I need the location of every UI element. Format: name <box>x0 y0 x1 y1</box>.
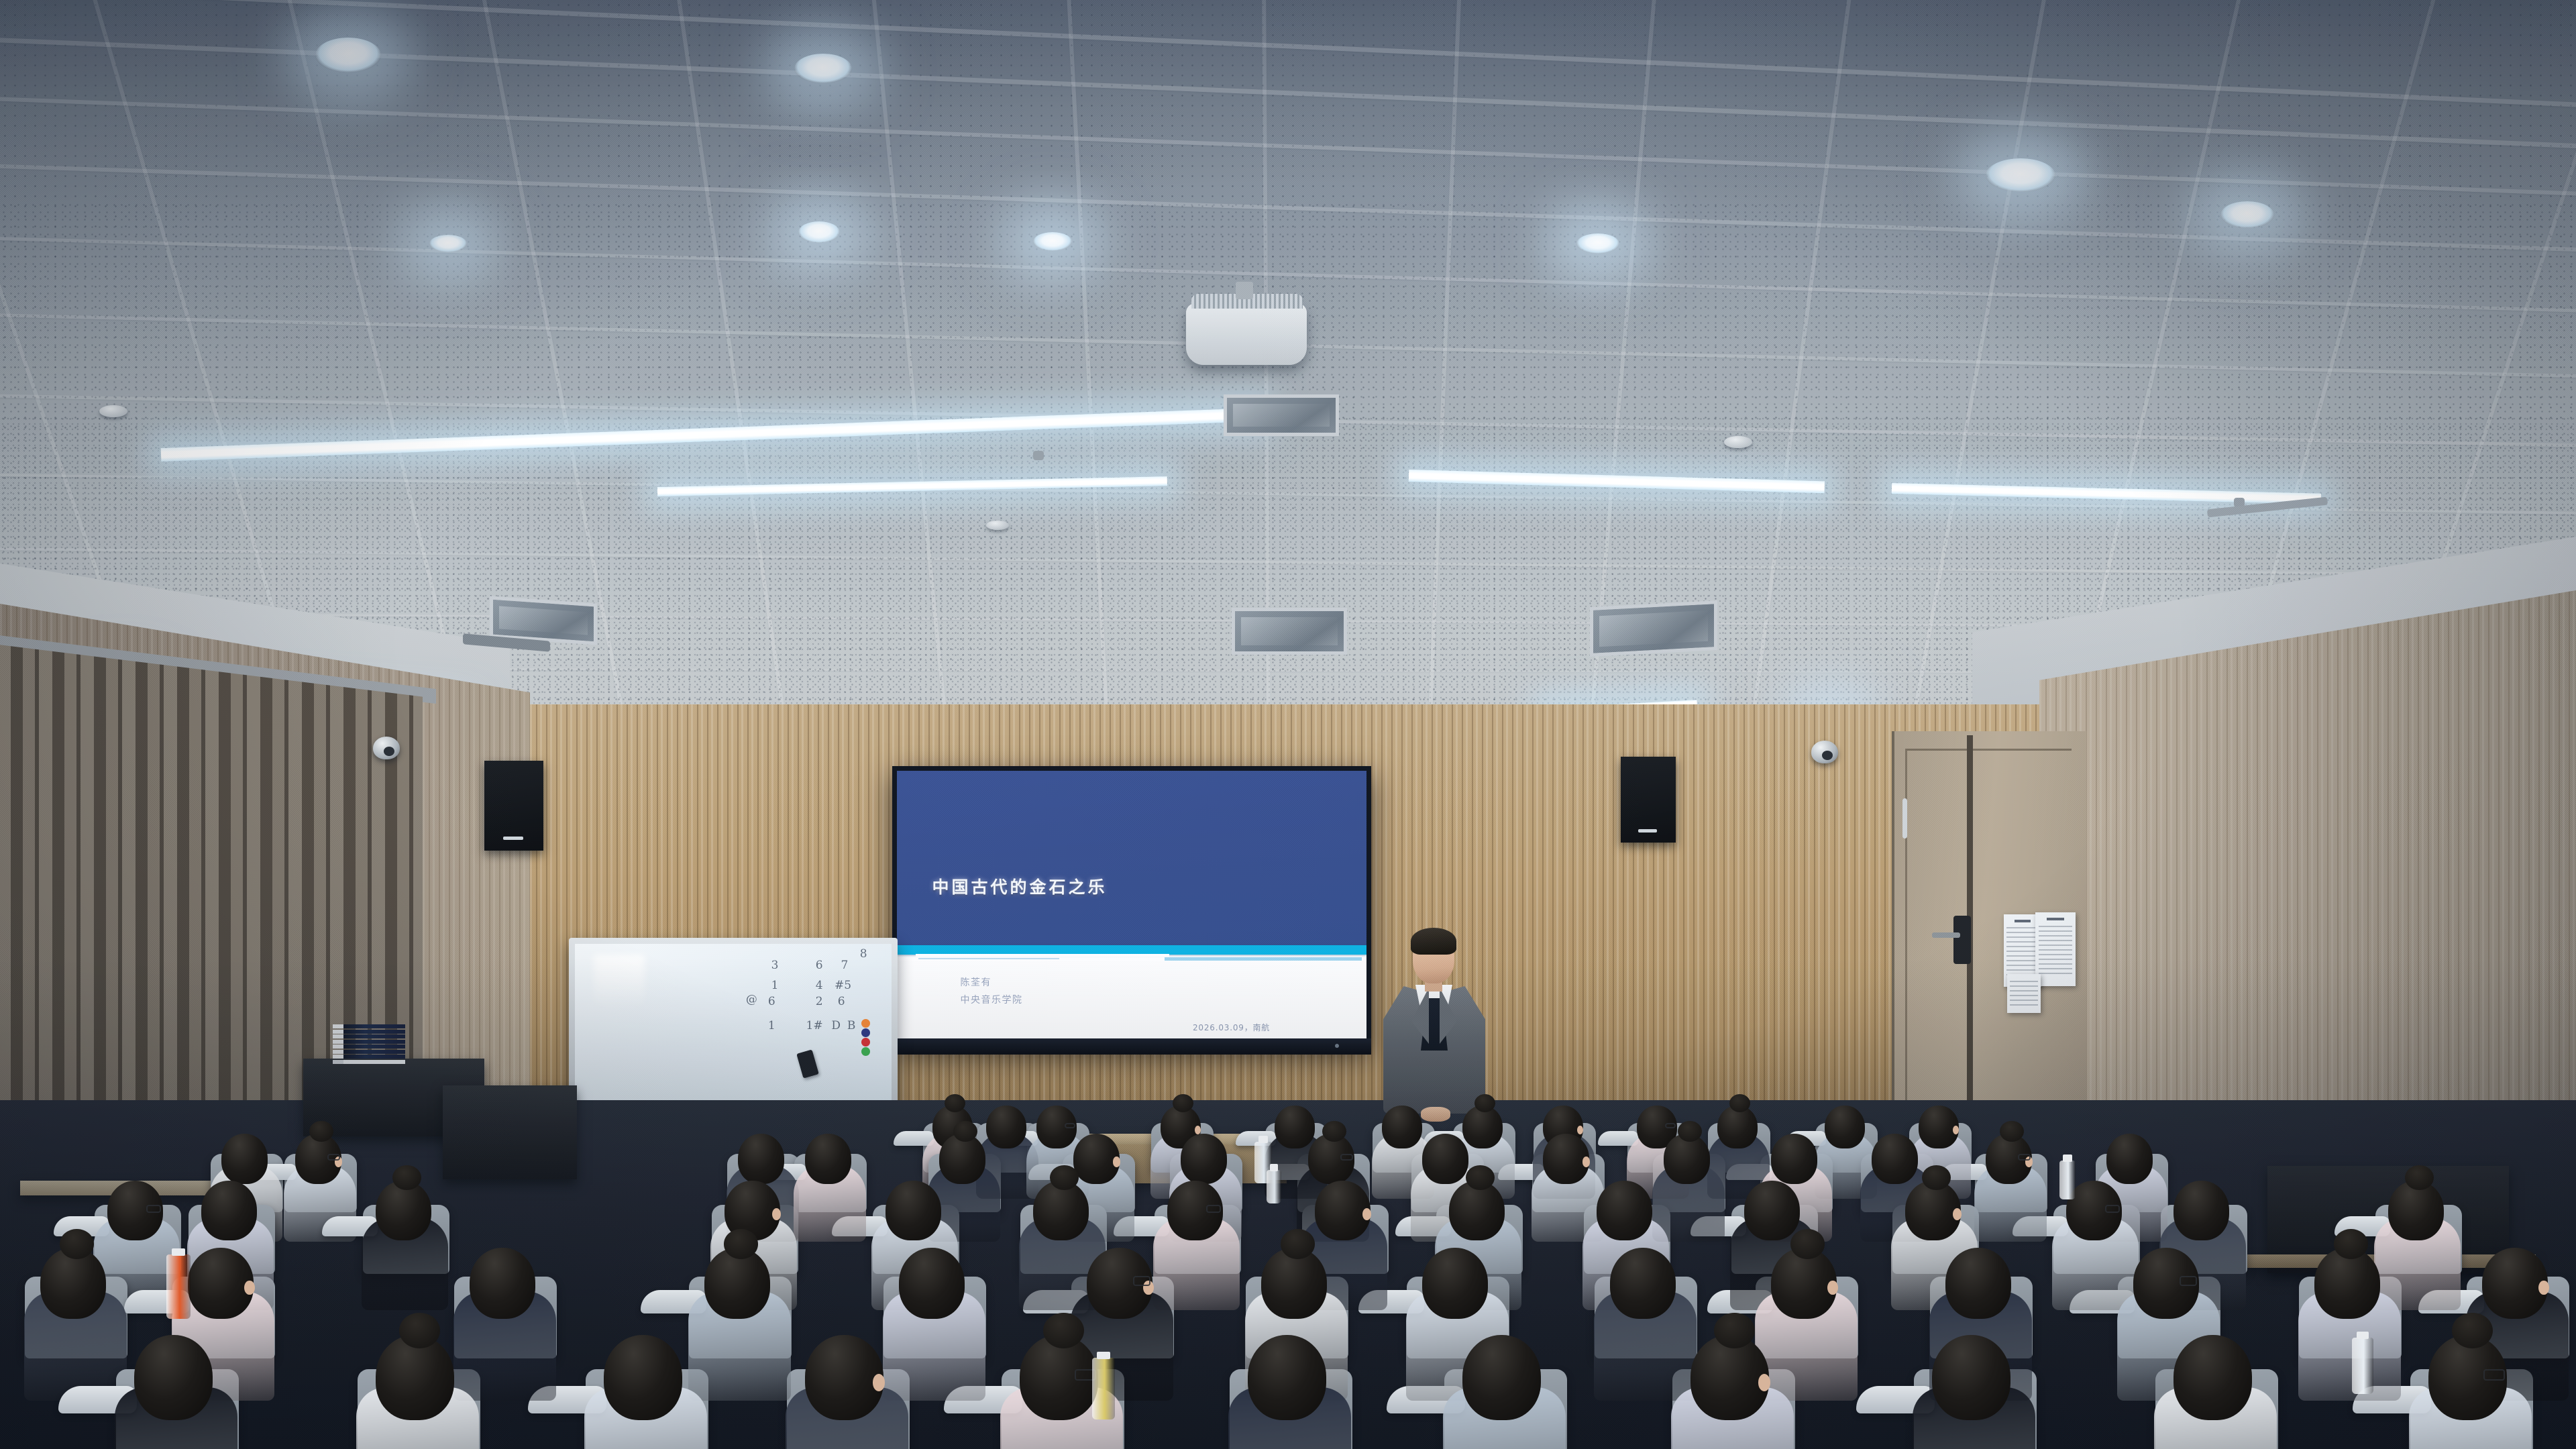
audience-head <box>885 1181 941 1240</box>
audience-ear <box>2538 1281 2548 1295</box>
bottle-cap <box>1097 1352 1110 1359</box>
audience-head <box>1744 1181 1800 1240</box>
audience-head <box>1932 1335 2010 1420</box>
book <box>333 1024 405 1028</box>
ceiling-grid-line-v <box>657 0 826 751</box>
audience-head <box>1610 1248 1676 1319</box>
audience-hair-bun <box>2000 1121 2024 1142</box>
book <box>333 1050 405 1054</box>
audience-hair-bun <box>1714 1313 1755 1348</box>
bottle-cap <box>2357 1332 2369 1339</box>
audience-hair-bun <box>1729 1094 1750 1112</box>
audience-head <box>1422 1134 1468 1184</box>
audience-head <box>1248 1335 1326 1420</box>
slide-title: 中国古代的金石之乐 <box>932 874 1108 898</box>
audience-ear <box>1113 1157 1120 1167</box>
whiteboard-magnets[interactable] <box>861 1019 870 1057</box>
audience-glasses <box>2483 1369 2505 1381</box>
audience-hair-bun <box>1474 1094 1495 1112</box>
dome-camera-left <box>373 737 400 759</box>
audience-hair-bun <box>399 1313 440 1348</box>
audience-head <box>2173 1335 2252 1420</box>
audience-hair-bun <box>1922 1165 1951 1191</box>
air-vent-right <box>1590 600 1717 657</box>
projection-screen: 中国古代的金石之乐 陈荃有 中央音乐学院 2026.03.09，南航 <box>892 766 1371 1048</box>
audience-head <box>1771 1134 1817 1184</box>
sprinkler-head <box>1033 451 1044 460</box>
audience-ear <box>1953 1208 1962 1220</box>
slide-accent-bar <box>897 945 1366 955</box>
ceiling-grid-line-v <box>1060 0 1124 751</box>
audience-head <box>1422 1248 1488 1319</box>
wall-poster-right <box>2035 912 2076 986</box>
smoke-detector-center <box>986 521 1009 530</box>
poster-text-lines <box>2006 927 2038 978</box>
whiteboard-magnet[interactable] <box>861 1019 870 1028</box>
audience-head <box>134 1335 213 1420</box>
whiteboard-magnet[interactable] <box>861 1038 870 1046</box>
audience-hair-bun <box>2405 1165 2434 1191</box>
audience-glasses <box>327 1154 340 1161</box>
water-bottle[interactable] <box>1267 1170 1281 1203</box>
whiteboard-magnet[interactable] <box>861 1028 870 1037</box>
whiteboard-note: 6 <box>838 995 845 1008</box>
presenter-hair <box>1411 928 1456 955</box>
lecture-hall-photo: 中国古代的金石之乐 陈荃有 中央音乐学院 2026.03.09，南航 36781… <box>0 0 2576 1449</box>
wall-speaker-left <box>484 761 543 851</box>
door-lever-handle[interactable] <box>1932 932 1960 938</box>
screen-power-led <box>1335 1044 1339 1048</box>
whiteboard-note: 3 <box>771 959 779 972</box>
whiteboard-note: 1 <box>771 979 779 992</box>
audience-head <box>1382 1106 1422 1148</box>
whiteboard-magnet[interactable] <box>861 1047 870 1056</box>
audience-ear <box>873 1374 885 1391</box>
whiteboard-surface: 367814#5626@11#DB <box>575 944 892 1126</box>
water-bottle[interactable] <box>166 1254 191 1319</box>
audience-head <box>738 1134 784 1184</box>
audience-hair-bun <box>1790 1229 1825 1259</box>
audience-hair-bun <box>2452 1313 2493 1348</box>
bottle-cap <box>1258 1136 1269 1143</box>
audience-head <box>1597 1181 1652 1240</box>
ceiling-downlight <box>1033 232 1072 251</box>
wall-speaker-right <box>1621 757 1676 843</box>
chair-tablet-arm[interactable] <box>1598 1131 1638 1145</box>
whiteboard-note: 8 <box>860 947 867 961</box>
audience-hair-bun <box>392 1165 421 1191</box>
audience-hair-bun <box>1322 1121 1346 1142</box>
audience-head <box>1275 1106 1315 1148</box>
audience-head <box>805 1134 851 1184</box>
bottle-cap <box>172 1248 185 1256</box>
ceiling-downlight <box>798 221 840 243</box>
smoke-detector-left <box>99 405 127 417</box>
whiteboard-note: 6 <box>816 959 823 972</box>
audience-head <box>1945 1248 2011 1319</box>
audience-hair-bun <box>724 1229 758 1259</box>
presenter-hands <box>1421 1107 1450 1122</box>
book <box>333 1060 405 1064</box>
water-bottle[interactable] <box>2352 1338 2373 1394</box>
audience-ear <box>1827 1281 1837 1295</box>
audience-glasses <box>1340 1154 1353 1161</box>
audience-head <box>1825 1106 1865 1148</box>
audience-head <box>188 1248 254 1319</box>
audience-glasses <box>2105 1205 2120 1213</box>
audience-glasses <box>146 1205 161 1213</box>
book <box>333 1030 405 1034</box>
whiteboard-eraser[interactable] <box>796 1050 819 1079</box>
ceiling-grid-line-h <box>0 545 2576 580</box>
screen-bottom-bezel <box>892 1038 1371 1055</box>
audience-head <box>221 1134 268 1184</box>
audience-head <box>805 1335 883 1420</box>
whiteboard-note: B <box>847 1019 856 1032</box>
bottle-cap <box>2063 1155 2072 1162</box>
audience-hair-bun <box>953 1121 977 1142</box>
water-bottle[interactable] <box>2059 1161 2076 1199</box>
audience-hair-bun <box>60 1229 94 1259</box>
audience-hair-bun <box>1678 1121 1702 1142</box>
audience-glasses <box>1206 1205 1221 1213</box>
audience-glasses <box>1665 1123 1676 1129</box>
audience-ear <box>772 1208 781 1220</box>
audience-glasses <box>2018 1154 2031 1161</box>
ceiling-downlight <box>2220 201 2274 228</box>
audience-hair-bun <box>1173 1094 1193 1112</box>
audience-head <box>1181 1134 1227 1184</box>
whiteboard-note: 4 <box>816 979 823 992</box>
door-edge-handle[interactable] <box>1902 798 1907 839</box>
projector-mount <box>1236 282 1253 299</box>
audience-hair-bun <box>1281 1229 1315 1259</box>
audience-glasses <box>1133 1276 1151 1285</box>
poster-text-lines <box>2039 926 2072 977</box>
ceiling-projector <box>1186 303 1307 365</box>
whiteboard-note: 7 <box>841 959 848 972</box>
ceiling-downlight <box>315 38 381 72</box>
audience-ear <box>1758 1374 1770 1391</box>
ceiling-downlight <box>794 54 852 83</box>
book <box>333 1044 405 1049</box>
whiteboard-note: 2 <box>816 995 823 1008</box>
bottle-cap <box>1270 1164 1278 1171</box>
audience-hair-bun <box>1043 1313 1084 1348</box>
audience-head <box>2173 1181 2229 1240</box>
audience-head <box>899 1248 965 1319</box>
book <box>333 1034 405 1038</box>
slide-organization: 中央音乐学院 <box>961 993 1023 1006</box>
audience-head <box>470 1248 535 1319</box>
audience-hair-bun <box>1466 1165 1495 1191</box>
poster-title-line <box>2047 918 2064 920</box>
whiteboard-glare <box>594 955 645 1010</box>
audience-hair-bun <box>945 1094 965 1112</box>
ceiling-downlight <box>1576 233 1619 254</box>
book <box>333 1055 405 1059</box>
ceiling-downlight <box>429 235 467 252</box>
audience-head <box>2106 1134 2153 1184</box>
audience-head <box>1462 1335 1541 1420</box>
audience-head <box>201 1181 257 1240</box>
slide-surface: 中国古代的金石之乐 陈荃有 中央音乐学院 2026.03.09，南航 <box>897 771 1366 1043</box>
ceiling-downlight <box>1986 158 2055 192</box>
air-vent-far <box>1224 394 1339 436</box>
audience-glasses <box>2180 1276 2198 1285</box>
slide-header-band <box>897 771 1366 945</box>
audience-head <box>1872 1134 1918 1184</box>
audience-ear <box>244 1281 254 1295</box>
whiteboard-note: 6 <box>768 995 775 1008</box>
audience-head <box>1315 1181 1371 1240</box>
slide-date: 2026.03.09，南航 <box>1193 1022 1270 1033</box>
whiteboard-note: 1# <box>806 1019 823 1032</box>
poster-text-lines <box>2010 981 2038 1008</box>
audience-head <box>986 1106 1026 1148</box>
chair-tablet-arm[interactable] <box>894 1131 934 1145</box>
door-lock-panel[interactable] <box>1953 916 1971 964</box>
ceiling-grid-line-h <box>0 87 2576 207</box>
audience-hair-bun <box>2334 1229 2368 1259</box>
audience-ear <box>1362 1208 1371 1220</box>
audience-head <box>2482 1248 2548 1319</box>
ceiling-grid-line-h <box>0 0 2576 121</box>
dome-camera-right <box>1811 741 1838 763</box>
audience-head <box>604 1335 682 1420</box>
audience-ear <box>1582 1157 1590 1167</box>
whiteboard-note: #5 <box>835 979 851 992</box>
audience-hair-bun <box>309 1121 333 1142</box>
poster-title-line <box>2015 920 2031 922</box>
slide-accent-stripe-b <box>918 958 1059 960</box>
audience-hair-bun <box>1050 1165 1079 1191</box>
equipment-box-left <box>443 1085 577 1179</box>
whiteboard-note: @ <box>746 993 757 1006</box>
stacked-books <box>333 1024 405 1062</box>
smoke-detector-right <box>1724 436 1752 448</box>
whiteboard-note: 1 <box>768 1019 775 1032</box>
whiteboard-note: D <box>831 1019 841 1032</box>
ceiling-grid-line-v <box>859 0 975 751</box>
air-vent-center <box>1232 608 1347 655</box>
slide-accent-stripe-a <box>916 954 1169 957</box>
slide-author: 陈荃有 <box>961 975 992 989</box>
audience-glasses <box>1065 1123 1075 1129</box>
book <box>333 1040 405 1044</box>
ceiling-grid-line-v <box>1417 0 1466 751</box>
water-bottle[interactable] <box>1092 1358 1115 1419</box>
wall-poster-bottom <box>2007 974 2041 1013</box>
